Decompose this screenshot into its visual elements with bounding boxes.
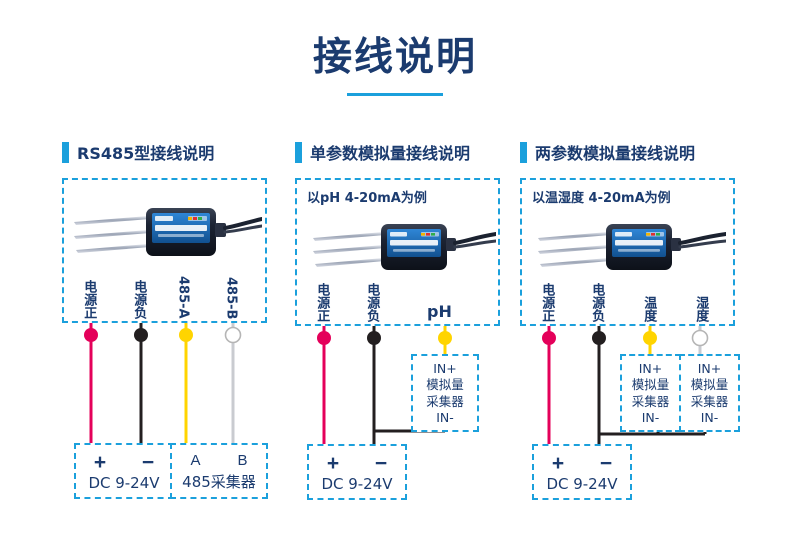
acquirer-line-1: 模拟量: [632, 377, 670, 393]
terminal-labels-dual-analog: 电源正 电源负 温度 湿度: [522, 256, 733, 322]
panel-note-single-analog: 以pH 4-20mA为例: [307, 187, 427, 206]
minus-symbol: −: [600, 452, 612, 476]
acquirer-in-negative: IN-: [642, 410, 660, 426]
terminal-label-power-negative: 电源负: [590, 283, 603, 322]
section-title-single-analog: 单参数模拟量接线说明: [310, 140, 470, 164]
panel-note-dual-analog: 以温湿度 4-20mA为例: [532, 187, 671, 206]
acquirer-line-1: 模拟量: [691, 377, 729, 393]
terminal-label-temperature: 温度: [642, 296, 655, 322]
minus-symbol: −: [142, 451, 154, 475]
power-supply-box-rs485: + − DC 9-24V: [74, 443, 174, 499]
wiring-diagram-dual-analog: IN+ 模拟量 采集器 IN- IN+ 模拟量 采集器 IN- + − DC 9…: [520, 326, 735, 531]
title-underline-rule: [347, 93, 443, 96]
terminal-label-485-a: 485-A: [176, 276, 189, 319]
power-symbols-row: + −: [534, 452, 630, 476]
analog-acquirer-box-1: IN+ 模拟量 采集器 IN-: [620, 354, 681, 432]
acquirer-in-positive: IN+: [698, 361, 722, 377]
section-single-analog: 单参数模拟量接线说明 以pH 4-20mA为例: [295, 140, 500, 531]
section-rs485: RS485型接线说明: [62, 140, 267, 528]
acquirer-in-positive: IN+: [433, 361, 457, 377]
title-block: 接线说明: [0, 38, 790, 96]
device-panel-rs485: 电源正 电源负 485-A 485-B: [62, 178, 267, 323]
terminal-labels-rs485: 电源正 电源负 485-A 485-B: [64, 253, 265, 319]
ab-symbols-row: A B: [172, 452, 266, 469]
plus-symbol: +: [327, 452, 339, 476]
page-title: 接线说明: [0, 38, 790, 77]
power-supply-caption: DC 9-24V: [309, 475, 405, 493]
rs485-collector-box: A B 485采集器: [170, 443, 268, 499]
terminal-label-power-positive: 电源正: [540, 283, 553, 322]
plus-symbol: +: [94, 451, 106, 475]
plus-symbol: +: [552, 452, 564, 476]
section-header-dual-analog: 两参数模拟量接线说明: [520, 140, 735, 164]
analog-acquirer-box-2: IN+ 模拟量 采集器 IN-: [679, 354, 740, 432]
power-supply-box-single-analog: + − DC 9-24V: [307, 444, 407, 500]
acquirer-in-negative: IN-: [701, 410, 719, 426]
section-header-single-analog: 单参数模拟量接线说明: [295, 140, 500, 164]
terminal-label-humidity: 湿度: [694, 296, 707, 322]
terminal-b-symbol: B: [237, 452, 247, 469]
section-header-rs485: RS485型接线说明: [62, 140, 267, 164]
power-symbols-row: + −: [309, 452, 405, 476]
acquirer-line-2: 采集器: [691, 394, 729, 410]
device-panel-single-analog: 以pH 4-20mA为例: [295, 178, 500, 326]
terminal-a-symbol: A: [190, 452, 200, 469]
acquirer-line-1: 模拟量: [426, 377, 464, 393]
power-supply-box-dual-analog: + − DC 9-24V: [532, 444, 632, 500]
section-dual-analog: 两参数模拟量接线说明 以温湿度 4-20mA为例: [520, 140, 735, 531]
device-panel-dual-analog: 以温湿度 4-20mA为例: [520, 178, 735, 326]
minus-symbol: −: [375, 452, 387, 476]
header-accent-bar-icon: [520, 142, 527, 163]
terminal-label-ph: pH: [427, 304, 452, 320]
header-accent-bar-icon: [295, 142, 302, 163]
section-title-dual-analog: 两参数模拟量接线说明: [535, 140, 695, 164]
acquirer-in-positive: IN+: [639, 361, 663, 377]
acquirer-line-2: 采集器: [426, 394, 464, 410]
acquirer-in-negative: IN-: [436, 410, 454, 426]
terminal-label-power-positive: 电源正: [82, 280, 95, 319]
terminal-label-power-negative: 电源负: [365, 283, 378, 322]
wiring-diagram-single-analog: IN+ 模拟量 采集器 IN- + − DC 9-24V: [295, 326, 500, 531]
power-symbols-row: + −: [76, 451, 172, 475]
acquirer-line-2: 采集器: [632, 394, 670, 410]
power-supply-caption: DC 9-24V: [534, 475, 630, 493]
analog-acquirer-box-1: IN+ 模拟量 采集器 IN-: [411, 354, 479, 432]
section-title-rs485: RS485型接线说明: [77, 140, 214, 164]
header-accent-bar-icon: [62, 142, 69, 163]
wiring-diagram-rs485: + − DC 9-24V A B 485采集器: [62, 323, 267, 528]
terminal-labels-single-analog: 电源正 电源负 pH: [297, 256, 498, 322]
terminal-label-power-negative: 电源负: [132, 280, 145, 319]
terminal-label-485-b: 485-B: [224, 277, 237, 319]
wire-lines-rs485: [62, 323, 267, 453]
terminal-label-power-positive: 电源正: [315, 283, 328, 322]
rs485-collector-caption: 485采集器: [172, 471, 266, 492]
power-supply-caption: DC 9-24V: [76, 474, 172, 492]
